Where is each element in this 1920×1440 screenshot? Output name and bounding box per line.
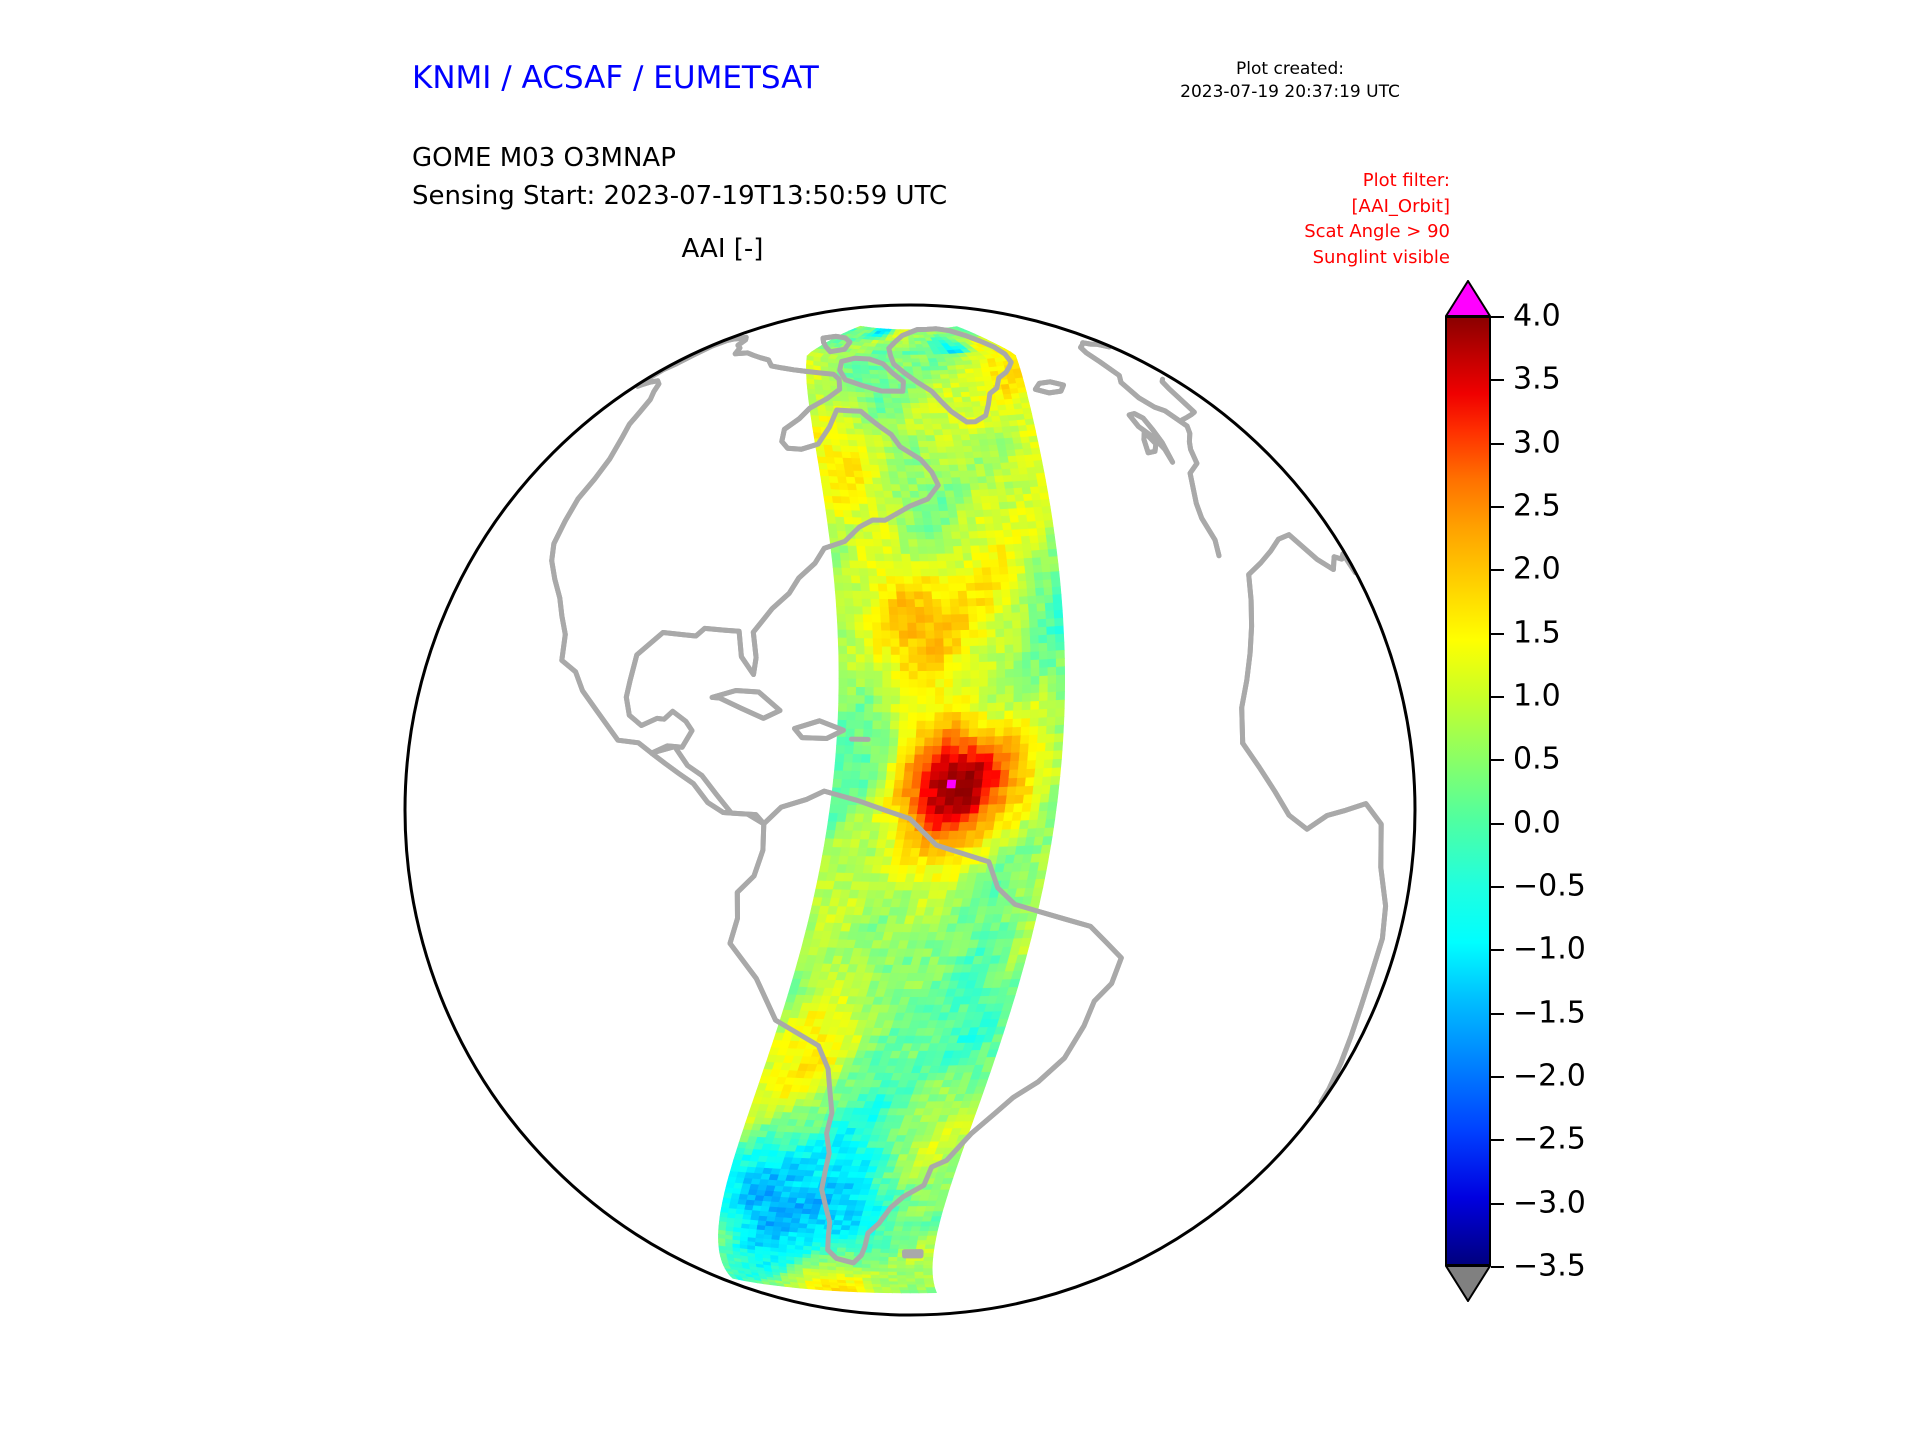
swath-pixel <box>848 1289 858 1292</box>
swath-pixel <box>904 512 914 519</box>
swath-pixel <box>1019 589 1028 597</box>
swath-pixel <box>874 393 884 398</box>
swath-pixel <box>974 510 984 517</box>
swath-pixel <box>1007 450 1017 457</box>
colorbar-tick-label: −3.0 <box>1513 1185 1586 1220</box>
swath-pixel <box>865 704 874 713</box>
swath-pixel <box>882 713 891 722</box>
swath-pixel <box>845 746 854 755</box>
swath-pixel <box>923 518 933 525</box>
swath-pixel <box>878 413 888 419</box>
swath-pixel <box>971 670 980 679</box>
swath-pixel <box>951 738 960 747</box>
swath-pixel <box>990 451 1000 458</box>
swath-pixel <box>930 459 940 465</box>
swath-pixel <box>899 730 908 739</box>
swath-pixel <box>941 379 951 384</box>
swath-pixel <box>827 464 837 471</box>
swath-pixel <box>873 539 883 546</box>
swath-pixel <box>942 814 952 823</box>
swath-pixel <box>844 754 853 763</box>
swath-pixel <box>996 637 1005 645</box>
swath-pixel <box>908 721 917 729</box>
swath-pixel <box>940 831 950 840</box>
swath-pixel <box>918 1236 928 1241</box>
swath-pixel <box>1009 582 1018 590</box>
swath-pixel <box>1028 430 1037 437</box>
swath-pixel <box>947 569 957 577</box>
swath-pixel <box>868 780 878 789</box>
swath-pixel <box>1044 828 1054 837</box>
swath-pixel <box>965 369 974 374</box>
swath-pixel <box>1036 521 1045 529</box>
swath-pixel <box>953 663 962 671</box>
swath-pixel <box>852 831 862 840</box>
swath-pixel <box>788 1237 797 1242</box>
swath-pixel <box>1008 456 1018 463</box>
swath-pixel <box>869 576 879 584</box>
swath-pixel <box>950 525 960 532</box>
swath-pixel <box>1018 515 1027 523</box>
swath-pixel <box>872 430 882 436</box>
swath-pixel <box>864 435 874 441</box>
swath-pixel <box>987 720 996 729</box>
swath-pixel <box>1030 718 1039 727</box>
swath-pixel <box>973 779 983 788</box>
swath-pixel <box>842 568 851 576</box>
swath-pixel <box>930 569 940 577</box>
swath-pixel <box>963 553 973 561</box>
swath-pixel <box>978 391 987 396</box>
swath-pixel <box>1011 744 1020 753</box>
swath-pixel <box>966 763 976 772</box>
swath-pixel <box>848 671 857 679</box>
swath-pixel <box>825 406 834 412</box>
swath-pixel <box>834 575 843 583</box>
swath-pixel <box>950 599 959 607</box>
swath-pixel <box>903 345 910 348</box>
colorbar-tick <box>1491 506 1504 508</box>
swath-pixel <box>966 583 976 591</box>
swath-pixel <box>838 704 847 713</box>
swath-pixel <box>921 1222 931 1227</box>
swath-pixel <box>965 771 975 780</box>
swath-pixel <box>1003 813 1013 822</box>
swath-pixel <box>951 478 961 485</box>
swath-pixel <box>958 591 967 599</box>
swath-pixel <box>1028 752 1037 761</box>
swath-pixel <box>880 1253 889 1257</box>
swath-pixel <box>993 590 1002 598</box>
swath-pixel <box>944 704 953 713</box>
swath-pixel <box>915 746 925 755</box>
swath-pixel <box>874 663 883 671</box>
swath-pixel <box>791 1218 801 1223</box>
swath-pixel <box>852 763 862 772</box>
swath-pixel <box>908 478 918 485</box>
swath-pixel <box>847 484 857 491</box>
swath-pixel <box>901 547 911 554</box>
swath-pixel <box>881 729 890 738</box>
swath-pixel <box>900 1236 910 1241</box>
swath-pixel <box>871 1253 880 1257</box>
swath-pixel <box>863 471 873 478</box>
swath-pixel <box>988 545 998 553</box>
swath-pixel <box>904 459 914 465</box>
swath-pixel <box>894 780 904 789</box>
swath-pixel <box>1040 794 1050 803</box>
swath-pixel <box>1015 495 1024 502</box>
swath-pixel <box>829 476 839 483</box>
swath-pixel <box>883 688 892 696</box>
swath-pixel <box>898 607 907 615</box>
swath-pixel <box>862 746 871 755</box>
swath-pixel <box>864 478 874 485</box>
swath-pixel <box>916 430 926 436</box>
swath-pixel <box>1004 728 1013 737</box>
swath-pixel <box>1039 643 1048 652</box>
swath-pixel <box>979 654 988 662</box>
swath-pixel <box>897 1272 906 1275</box>
swath-pixel <box>914 419 924 425</box>
plot-created-label: Plot created: <box>1120 58 1460 81</box>
swath-pixel <box>961 539 971 547</box>
swath-pixel <box>1012 727 1021 736</box>
swath-pixel <box>917 631 926 639</box>
swath-pixel <box>1008 567 1017 575</box>
swath-pixel <box>960 477 970 484</box>
swath-pixel <box>1037 603 1046 611</box>
swath-pixel <box>847 654 856 662</box>
swath-pixel <box>1039 701 1048 710</box>
swath-pixel <box>925 814 935 823</box>
swath-pixel <box>1003 745 1012 754</box>
swath-pixel <box>894 562 904 570</box>
swath-pixel <box>962 397 972 402</box>
swath-pixel <box>910 1231 920 1236</box>
swath-pixel <box>1010 589 1019 597</box>
swath-pixel <box>849 553 859 561</box>
swath-pixel <box>830 434 840 440</box>
swath-pixel <box>1045 819 1055 828</box>
swath-pixel <box>918 655 927 663</box>
swath-pixel <box>925 721 934 730</box>
swath-pixel <box>843 583 852 591</box>
swath-pixel <box>1009 462 1019 469</box>
swath-pixel <box>822 483 832 490</box>
swath-pixel <box>1049 557 1058 565</box>
swath-pixel <box>938 504 948 511</box>
swath-pixel <box>838 630 847 638</box>
swath-pixel <box>880 746 889 755</box>
swath-pixel <box>862 1268 871 1272</box>
swath-pixel <box>1041 557 1050 565</box>
swath-pixel <box>852 511 862 518</box>
swath-pixel <box>1014 661 1023 670</box>
swath-pixel <box>782 1223 791 1228</box>
swath-pixel <box>942 430 952 436</box>
swath-pixel <box>894 355 902 359</box>
swath-pixel <box>859 1221 869 1226</box>
swath-pixel <box>942 1178 953 1184</box>
swath-pixel <box>1039 635 1048 644</box>
swath-pixel <box>921 772 931 781</box>
swath-pixel <box>991 779 1001 788</box>
swath-pixel <box>971 440 981 446</box>
swath-pixel <box>945 491 955 498</box>
swath-pixel <box>1050 785 1059 794</box>
swath-pixel <box>873 631 882 639</box>
swath-pixel <box>856 655 865 663</box>
swath-pixel <box>914 466 924 472</box>
swath-pixel <box>1030 636 1039 645</box>
swath-pixel <box>833 401 842 407</box>
swath-pixel <box>900 647 909 655</box>
swath-pixel <box>1012 812 1022 821</box>
swath-pixel <box>994 736 1003 745</box>
swath-pixel <box>880 1279 889 1282</box>
swath-pixel <box>912 363 922 367</box>
swath-pixel <box>853 746 862 755</box>
swath-pixel <box>970 654 979 662</box>
swath-pixel <box>971 687 980 696</box>
swath-pixel <box>896 584 906 592</box>
swath-pixel <box>796 1237 805 1242</box>
swath-pixel <box>1016 455 1025 462</box>
swath-pixel <box>951 729 960 738</box>
swath-pixel <box>900 639 909 647</box>
swath-pixel <box>1046 811 1056 820</box>
swath-pixel <box>934 623 943 631</box>
swath-pixel <box>952 435 962 441</box>
swath-pixel <box>889 384 899 389</box>
swath-pixel <box>1022 652 1031 661</box>
swath-pixel <box>839 1235 849 1240</box>
swath-pixel <box>923 375 933 380</box>
swath-pixel <box>806 1229 815 1234</box>
swath-pixel <box>988 703 997 712</box>
swath-pixel <box>916 1285 926 1288</box>
swath-pixel <box>894 569 904 577</box>
swath-pixel <box>974 771 984 780</box>
swath-pixel <box>996 629 1005 637</box>
swath-pixel <box>894 408 904 413</box>
swath-pixel <box>837 614 846 622</box>
swath-pixel <box>892 491 902 498</box>
swath-pixel <box>879 755 889 764</box>
swath-pixel <box>987 483 997 490</box>
swath-pixel <box>853 1211 863 1216</box>
swath-pixel <box>1056 675 1064 684</box>
swath-pixel <box>915 607 924 615</box>
swath-pixel <box>953 397 963 402</box>
swath-pixel <box>917 1288 927 1291</box>
swath-pixel <box>871 1278 880 1281</box>
swath-pixel <box>924 424 934 430</box>
swath-pixel <box>948 576 958 584</box>
swath-pixel <box>906 425 916 431</box>
swath-pixel <box>882 485 892 492</box>
swath-pixel <box>917 713 926 721</box>
swath-pixel <box>924 738 933 747</box>
swath-pixel <box>1026 461 1035 468</box>
swath-pixel <box>852 1216 862 1221</box>
swath-pixel <box>846 729 855 738</box>
swath-pixel <box>805 1233 814 1238</box>
swath-pixel <box>873 639 882 647</box>
colorbar-tick-label: 2.5 <box>1513 489 1561 524</box>
swath-pixel <box>909 655 918 663</box>
swath-pixel <box>1046 619 1055 627</box>
swath-pixel <box>990 787 1000 796</box>
swath-pixel <box>924 1257 933 1261</box>
swath-pixel <box>897 1265 906 1269</box>
swath-pixel <box>913 577 923 585</box>
swath-pixel <box>1004 482 1014 489</box>
swath-pixel <box>840 490 850 497</box>
swath-pixel <box>792 1214 802 1219</box>
swath-pixel <box>936 679 945 687</box>
swath-pixel <box>995 530 1005 538</box>
swath-pixel <box>883 441 893 447</box>
swath-pixel <box>862 823 872 832</box>
swath-pixel <box>992 762 1002 771</box>
swath-pixel <box>1020 735 1029 744</box>
swath-pixel <box>891 713 900 721</box>
swath-pixel <box>1012 736 1021 745</box>
swath-pixel <box>869 366 878 371</box>
swath-pixel <box>837 814 847 823</box>
swath-pixel <box>827 517 837 524</box>
swath-pixel <box>961 704 970 713</box>
swath-pixel <box>882 540 892 547</box>
plot-filter-line-2: Scat Angle > 90 <box>1180 219 1450 245</box>
swath-pixel <box>995 395 1004 401</box>
swath-pixel <box>978 477 988 484</box>
swath-pixel <box>931 763 941 772</box>
swath-pixel <box>930 413 940 419</box>
swath-pixel <box>910 351 919 355</box>
swath-pixel <box>976 754 985 763</box>
swath-pixel <box>867 498 877 505</box>
swath-pixel <box>909 1236 919 1241</box>
swath-pixel <box>922 763 932 772</box>
swath-pixel <box>841 402 850 408</box>
swath-pixel <box>891 655 900 663</box>
swath-pixel <box>942 525 952 532</box>
swath-pixel <box>836 745 845 754</box>
swath-pixel <box>879 1265 888 1269</box>
swath-pixel <box>957 369 966 374</box>
swath-pixel <box>891 663 900 671</box>
swath-pixel <box>961 805 971 814</box>
swath-pixel <box>943 721 952 730</box>
swath-pixel <box>953 696 962 705</box>
swath-pixel <box>889 738 898 747</box>
swath-pixel <box>898 1279 907 1282</box>
swath-pixel <box>898 1282 908 1285</box>
swath-pixel <box>914 518 924 525</box>
swath-pixel <box>948 370 957 375</box>
swath-pixel <box>889 746 898 755</box>
swath-pixel <box>939 413 949 419</box>
swath-pixel <box>881 1245 890 1249</box>
swath-pixel <box>1022 660 1031 669</box>
swath-pixel <box>1039 651 1048 660</box>
swath-pixel <box>891 647 900 655</box>
swath-pixel <box>1005 661 1014 670</box>
swath-pixel <box>1008 502 1018 509</box>
swath-pixel <box>813 1238 822 1243</box>
swath-pixel <box>830 483 840 490</box>
swath-pixel <box>935 713 944 721</box>
swath-pixel <box>961 392 970 397</box>
swath-pixel <box>825 503 835 510</box>
swath-pixel <box>1051 776 1060 785</box>
swath-pixel <box>897 1261 906 1265</box>
swath-pixel <box>859 569 869 577</box>
swath-pixel <box>896 763 906 772</box>
swath-pixel <box>1024 414 1033 420</box>
swath-pixel <box>813 1234 822 1239</box>
swath-pixel <box>901 554 911 561</box>
colorbar-tick <box>1491 1266 1504 1268</box>
swath-pixel <box>1001 463 1011 470</box>
swath-pixel <box>1026 573 1035 581</box>
swath-pixel <box>913 371 923 375</box>
swath-pixel <box>951 429 961 435</box>
swath-pixel <box>833 1220 843 1225</box>
swath-pixel <box>1023 930 1034 939</box>
swath-pixel <box>1020 612 1029 620</box>
swath-pixel <box>861 1216 871 1221</box>
swath-pixel <box>811 1251 820 1255</box>
swath-pixel <box>918 1290 928 1293</box>
swath-pixel <box>866 554 876 562</box>
swath-pixel <box>881 1282 890 1285</box>
colorbar-tick-label: 3.5 <box>1513 362 1561 397</box>
swath-pixel <box>947 453 957 459</box>
swath-pixel <box>1039 542 1048 550</box>
plot-created-time: 2023-07-19 20:37:19 UTC <box>1120 81 1460 104</box>
swath-pixel <box>934 1206 944 1211</box>
swath-pixel <box>1043 768 1052 777</box>
swath-pixel <box>1014 685 1023 694</box>
swath-pixel <box>829 531 839 539</box>
swath-pixel <box>955 497 965 504</box>
swath-pixel <box>864 639 873 647</box>
swath-pixel <box>1011 597 1020 605</box>
swath-pixel <box>875 789 885 798</box>
swath-pixel <box>1011 523 1020 531</box>
swath-pixel <box>1046 734 1055 743</box>
swath-pixel <box>988 678 997 687</box>
swath-pixel <box>844 418 854 424</box>
swath-pixel <box>936 671 945 679</box>
swath-pixel <box>944 484 954 491</box>
swath-pixel <box>851 1221 861 1226</box>
swath-pixel <box>986 813 996 822</box>
swath-pixel <box>1022 693 1031 702</box>
swath-pixel <box>993 753 1002 762</box>
swath-pixel <box>922 1217 932 1222</box>
swath-pixel <box>847 695 856 704</box>
swath-pixel <box>927 1236 937 1241</box>
swath-pixel <box>953 655 962 663</box>
swath-pixel <box>909 704 918 712</box>
swath-pixel <box>967 464 977 471</box>
swath-pixel <box>919 789 929 798</box>
